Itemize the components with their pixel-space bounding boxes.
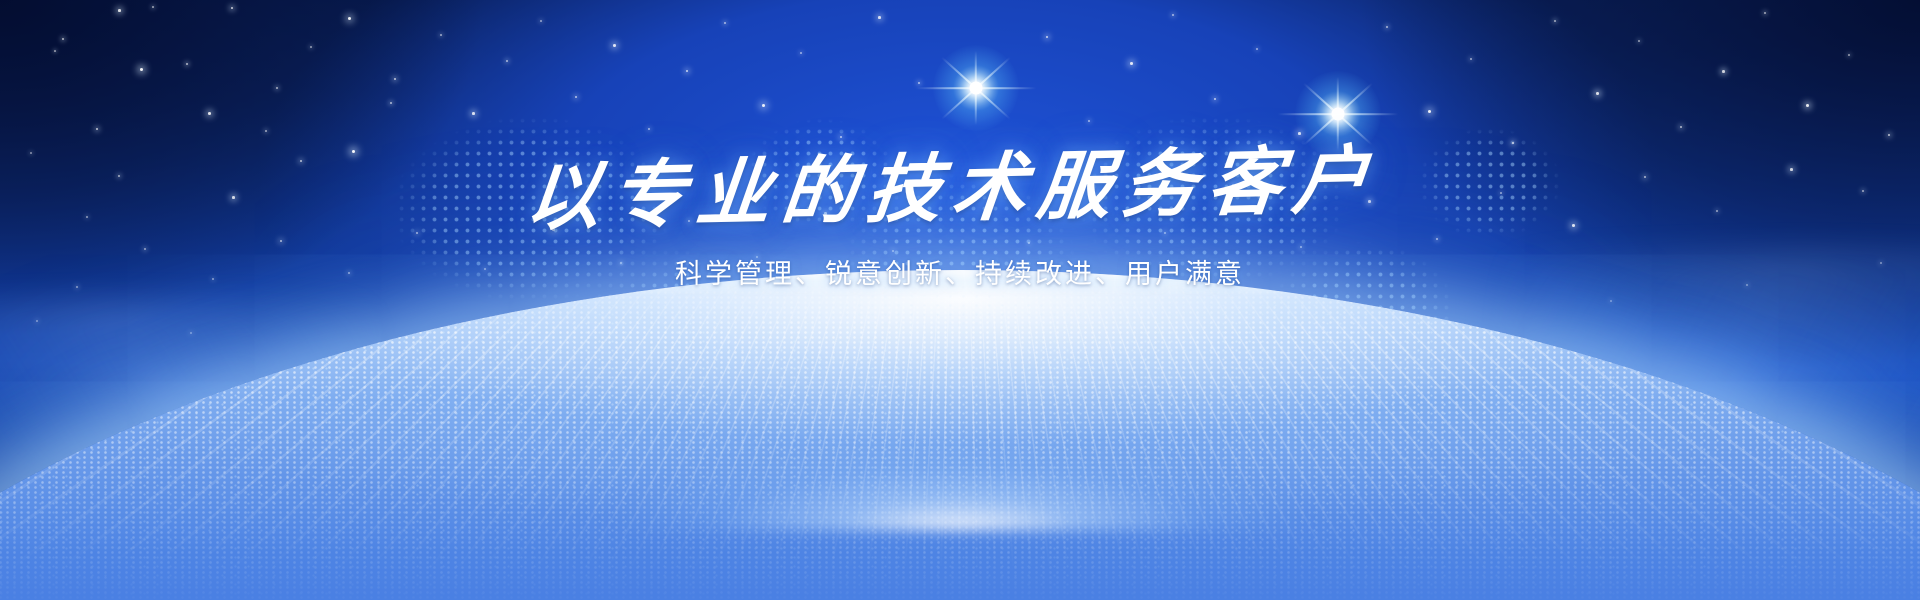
hero-banner: 以专业的技术服务客户 科学管理、锐意创新、持续改进、用户满意 xyxy=(0,0,1920,600)
star-56 xyxy=(1716,210,1718,212)
star-1 xyxy=(118,9,121,12)
star-7 xyxy=(231,7,233,9)
banner-copy: 以专业的技术服务客户 科学管理、锐意创新、持续改进、用户满意 xyxy=(0,0,1920,291)
city-lights xyxy=(0,280,1920,600)
star-2 xyxy=(152,6,154,8)
earth-horizon xyxy=(0,270,1920,600)
banner-headline: 以专业的技术服务客户 xyxy=(0,0,1920,246)
